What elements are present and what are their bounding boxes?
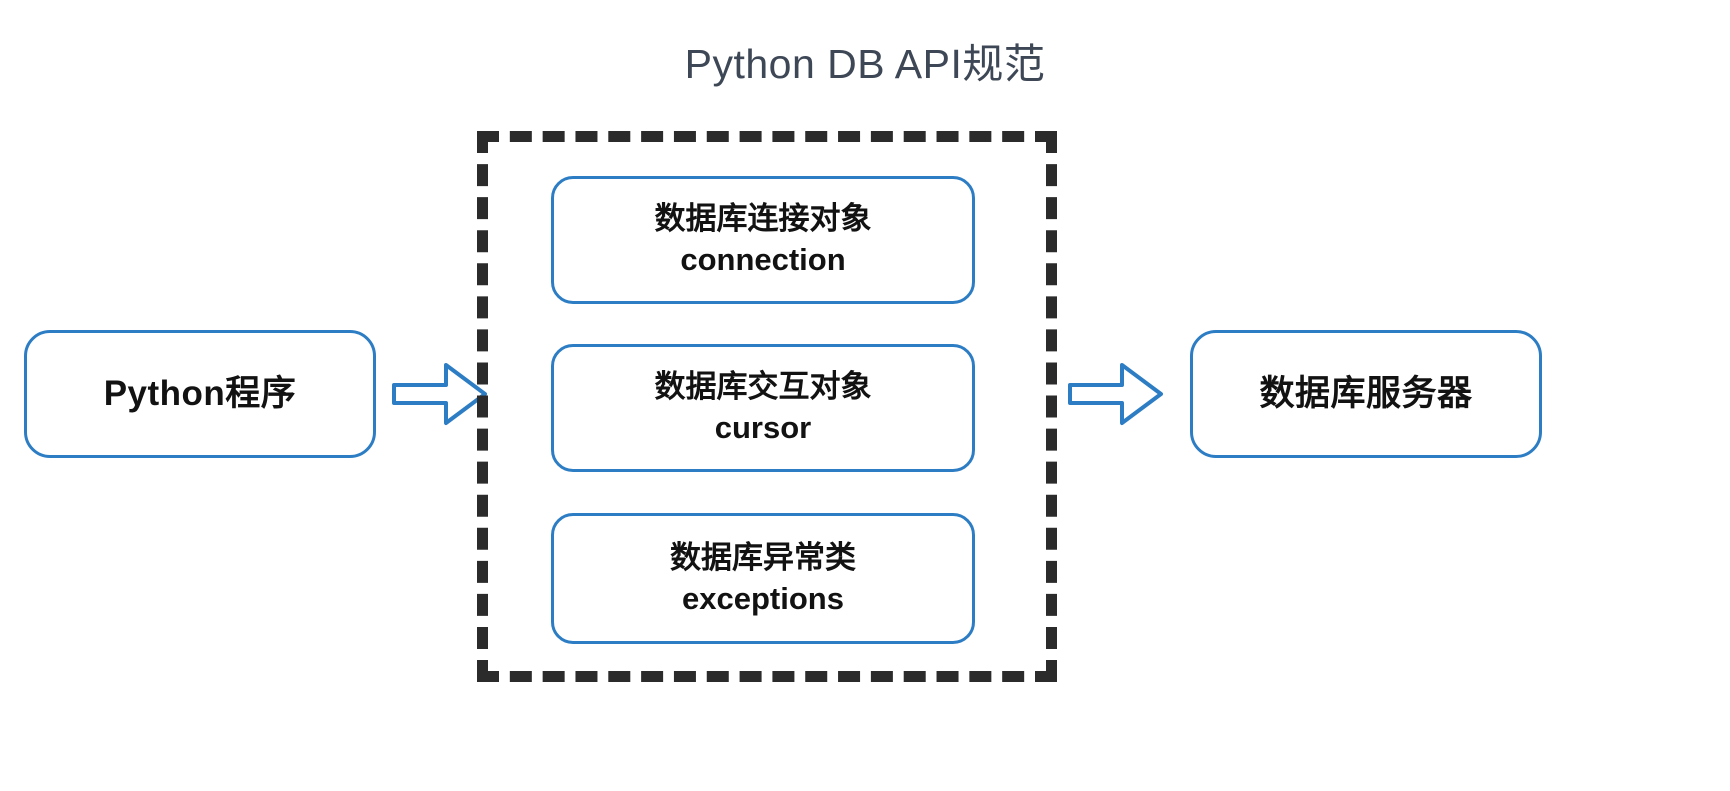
node-cursor-label-cn: 数据库交互对象 [655, 368, 872, 405]
diagram-canvas: Python DB API规范 Python程序 数据库连接对象 connect… [0, 0, 1730, 791]
arrow-program-to-spec-icon [392, 357, 488, 431]
node-python-program: Python程序 [24, 330, 376, 458]
node-cursor-label-en: cursor [715, 409, 811, 448]
node-connection-label-en: connection [680, 241, 845, 280]
node-cursor: 数据库交互对象 cursor [551, 344, 975, 472]
node-exceptions-label-en: exceptions [682, 580, 844, 619]
arrow-spec-to-server-icon [1068, 357, 1164, 431]
node-connection: 数据库连接对象 connection [551, 176, 975, 304]
node-python-program-label: Python程序 [104, 373, 297, 414]
node-exceptions-label-cn: 数据库异常类 [670, 539, 856, 576]
node-connection-label-cn: 数据库连接对象 [655, 200, 872, 237]
node-exceptions: 数据库异常类 exceptions [551, 513, 975, 644]
node-database-server: 数据库服务器 [1190, 330, 1542, 458]
diagram-title: Python DB API规范 [0, 40, 1730, 89]
node-database-server-label: 数据库服务器 [1259, 373, 1472, 414]
